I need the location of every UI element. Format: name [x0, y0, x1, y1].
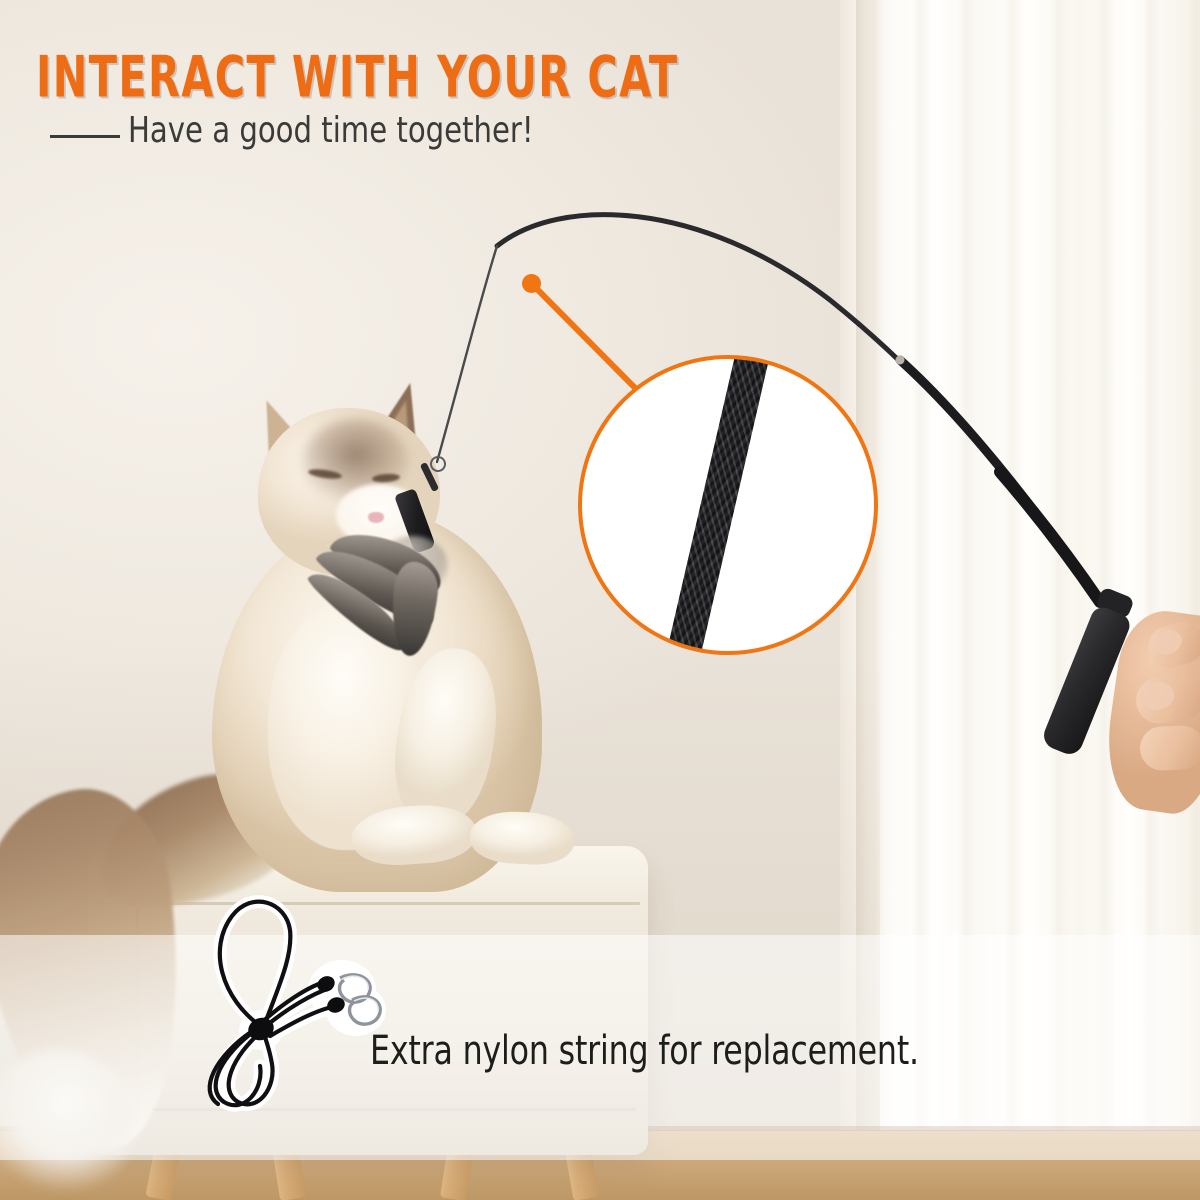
hand-finger	[1139, 725, 1200, 771]
page-title: INTERACT WITH YOUR CAT	[36, 44, 679, 110]
replacement-string-product-cutout	[160, 878, 400, 1113]
magnifier-circle	[578, 355, 878, 655]
subtitle-dash	[50, 135, 120, 138]
bottom-caption: Extra nylon string for replacement.	[370, 1028, 919, 1074]
page-subtitle: Have a good time together!	[128, 110, 534, 151]
cat-nose	[368, 512, 384, 523]
callout-dot	[522, 274, 541, 293]
product-marketing-image: Extra nylon string for replacement. INTE…	[0, 0, 1200, 1200]
braided-nylon-cord-detail	[658, 355, 777, 655]
